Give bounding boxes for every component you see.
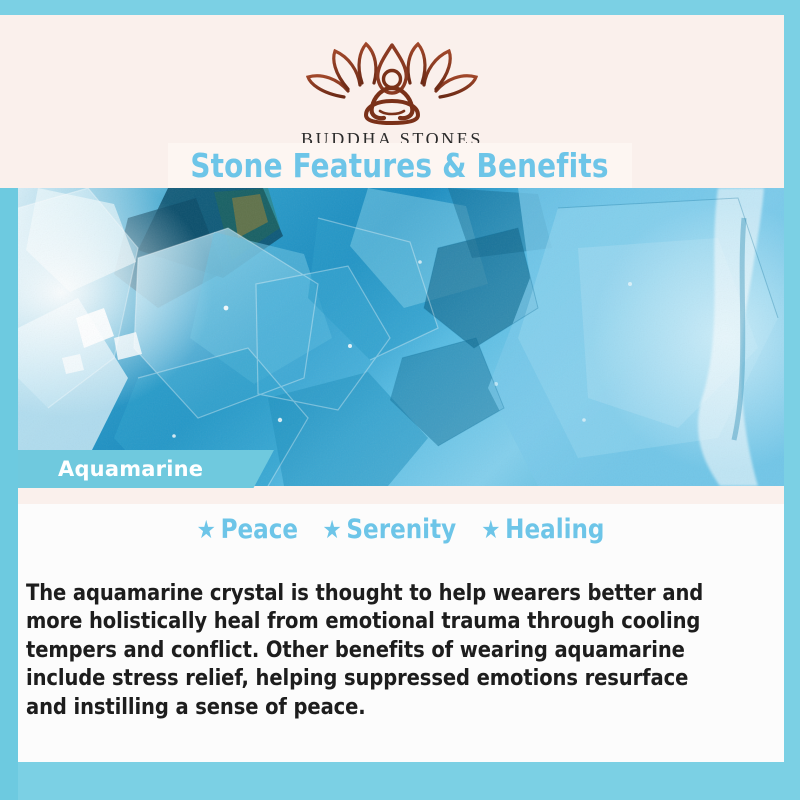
page-title-banner: Stone Features & Benefits: [168, 143, 632, 188]
feature-label: Peace: [221, 514, 298, 545]
feature-list: ★Peace★Serenity★Healing: [18, 514, 784, 545]
page-title: Stone Features & Benefits: [191, 146, 609, 185]
crystal-artwork: [18, 188, 784, 486]
stone-description: The aquamarine crystal is thought to hel…: [26, 579, 729, 722]
frame-border-right: [784, 0, 800, 800]
stone-name-tag: Aquamarine: [18, 450, 274, 488]
infographic-card: BUDDHA STONES Stone Features & Benefits …: [0, 0, 800, 800]
brand-logo: BUDDHA STONES: [0, 39, 784, 150]
lotus-meditation-icon: [304, 39, 480, 125]
feature-label: Serenity: [347, 514, 457, 545]
frame-border-left: [0, 188, 18, 800]
aquamarine-crystal-photo: [18, 188, 784, 486]
frame-border-bottom: [0, 762, 800, 800]
feature-item-healing: ★Healing: [481, 514, 604, 545]
feature-item-serenity: ★Serenity: [323, 514, 457, 545]
star-icon: ★: [197, 515, 216, 544]
stone-name-label: Aquamarine: [58, 457, 203, 481]
feature-item-peace: ★Peace: [197, 514, 298, 545]
star-icon: ★: [323, 515, 342, 544]
star-icon: ★: [481, 515, 500, 544]
frame-border-top: [0, 0, 800, 15]
cream-divider-strip: [18, 486, 784, 504]
feature-label: Healing: [505, 514, 604, 545]
